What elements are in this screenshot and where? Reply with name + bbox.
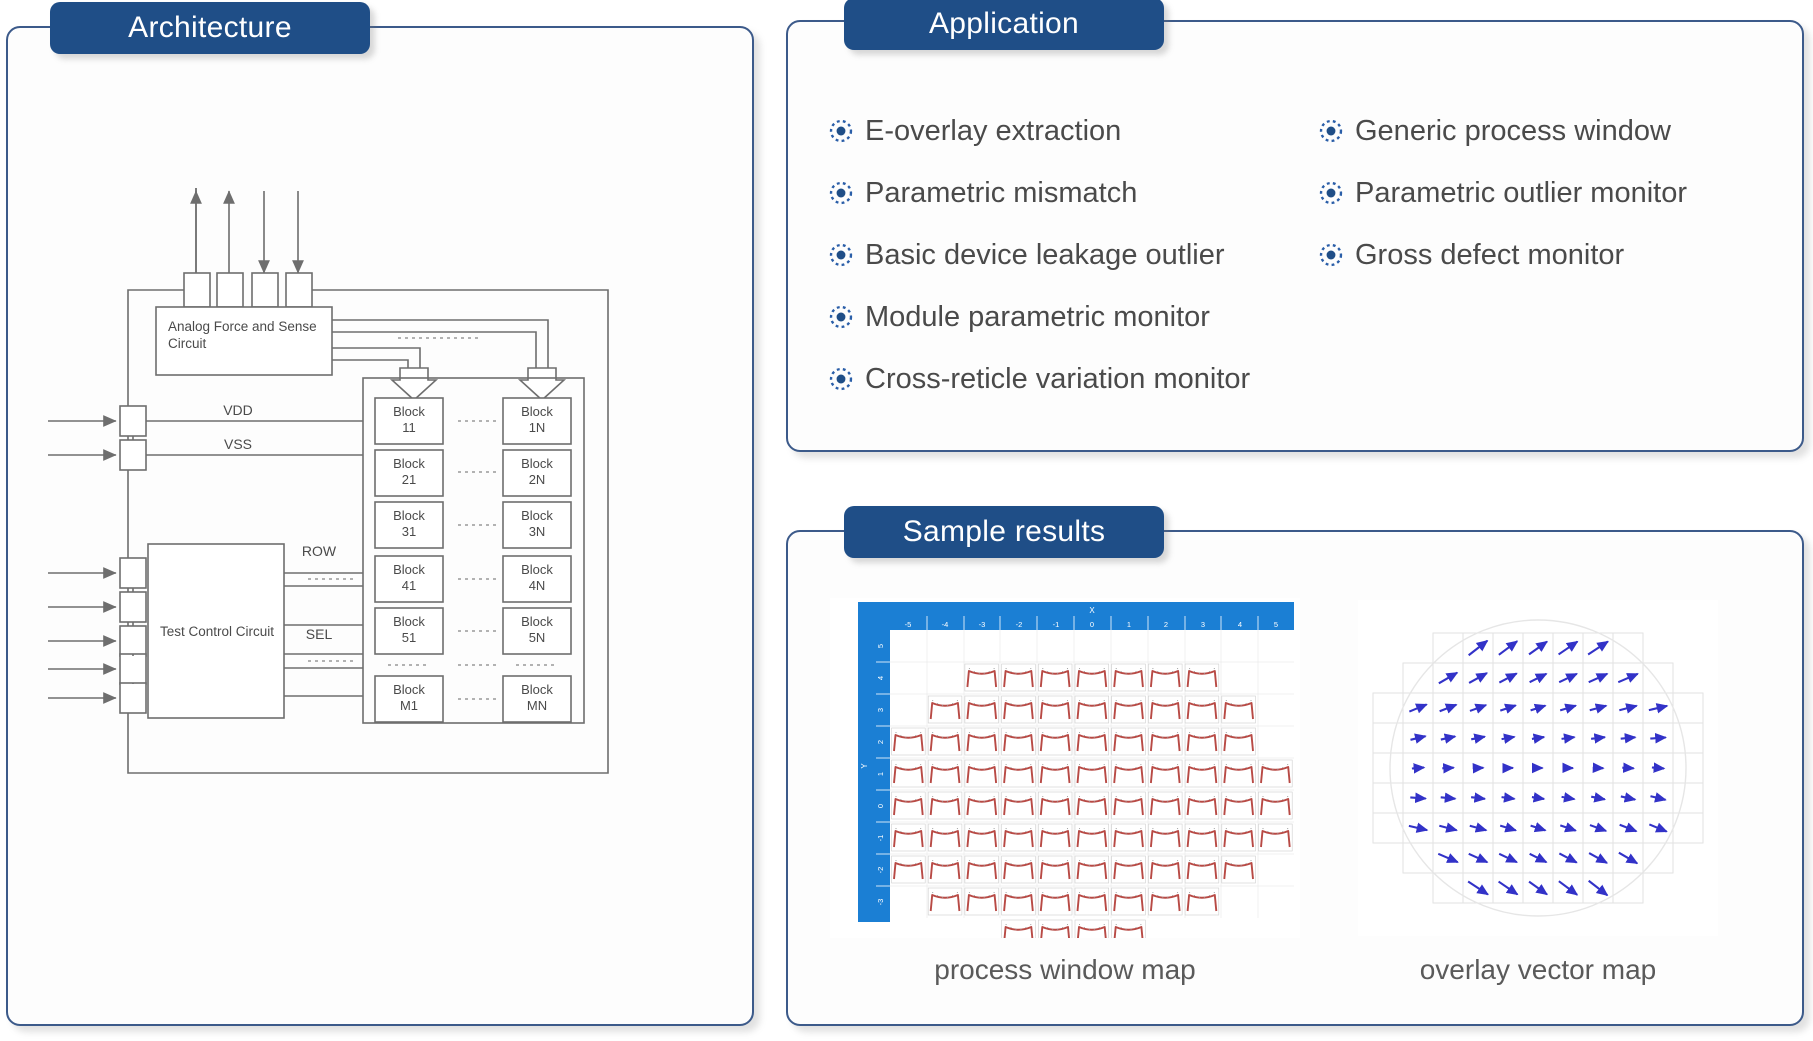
pwm-xlabel: X <box>1089 606 1095 615</box>
block-label: 41 <box>402 578 416 593</box>
list-item-label: E-overlay extraction <box>865 115 1121 148</box>
block-label: 1N <box>529 420 546 435</box>
block-label: 51 <box>402 630 416 645</box>
list-item[interactable]: Parametric mismatch <box>828 162 1298 224</box>
block-label: Block <box>393 404 425 419</box>
target-dot-icon <box>1318 242 1344 268</box>
list-item-label: Gross defect monitor <box>1355 239 1624 272</box>
block-label: Block <box>393 562 425 577</box>
target-dot-icon <box>828 304 854 330</box>
ovm-vector-group <box>1409 641 1667 895</box>
target-dot-icon <box>828 180 854 206</box>
block-label: 21 <box>402 472 416 487</box>
list-item[interactable]: Gross defect monitor <box>1318 224 1768 286</box>
block-label: 2N <box>529 472 546 487</box>
svg-text:-4: -4 <box>942 620 949 629</box>
svg-text:-3: -3 <box>876 899 885 906</box>
block-label: M1 <box>400 698 418 713</box>
target-dot-icon <box>828 366 854 392</box>
block-label: Block <box>393 614 425 629</box>
application-list: E-overlay extraction Parametric mismatch… <box>828 100 1768 410</box>
block-label: MN <box>527 698 547 713</box>
vss-label: VSS <box>224 436 252 452</box>
svg-text:3: 3 <box>1201 620 1205 629</box>
architecture-diagram: Block 11 Block 1N Block 21 Block 2N Bloc… <box>8 28 756 1028</box>
svg-text:2: 2 <box>1164 620 1168 629</box>
sel-label: SEL <box>306 626 333 642</box>
block-label: Block <box>393 456 425 471</box>
list-item-label: Generic process window <box>1355 115 1671 148</box>
svg-text:-1: -1 <box>876 835 885 842</box>
list-item-label: Cross-reticle variation monitor <box>865 363 1250 396</box>
list-item[interactable]: Basic device leakage outlier <box>828 224 1298 286</box>
svg-text:1: 1 <box>1127 620 1131 629</box>
block-label: 31 <box>402 524 416 539</box>
svg-text:4: 4 <box>1238 620 1242 629</box>
block-label: 4N <box>529 578 546 593</box>
pwm-ylabel: Y <box>860 763 869 769</box>
svg-text:-2: -2 <box>1016 620 1023 629</box>
target-dot-icon <box>1318 180 1344 206</box>
svg-text:-2: -2 <box>876 867 885 874</box>
architecture-panel-title: Architecture <box>50 2 370 54</box>
row-label: ROW <box>302 543 337 559</box>
analog-circuit-label-line1: Analog Force and Sense <box>168 319 317 334</box>
block-label: Block <box>393 682 425 697</box>
svg-text:-5: -5 <box>905 620 912 629</box>
application-panel-title: Application <box>844 0 1164 50</box>
analog-circuit-label-line2: Circuit <box>168 336 207 351</box>
block-label: Block <box>393 508 425 523</box>
block-label: Block <box>521 404 553 419</box>
svg-text:1: 1 <box>876 772 885 776</box>
svg-text:5: 5 <box>876 644 885 648</box>
svg-text:0: 0 <box>1090 620 1094 629</box>
list-item[interactable]: Module parametric monitor <box>828 286 1298 348</box>
sample-results-panel-title: Sample results <box>844 506 1164 558</box>
list-item[interactable]: Parametric outlier monitor <box>1318 162 1768 224</box>
svg-text:-1: -1 <box>1053 620 1060 629</box>
target-dot-icon <box>1318 118 1344 144</box>
svg-text:4: 4 <box>876 676 885 680</box>
block-label: 3N <box>529 524 546 539</box>
target-dot-icon <box>828 118 854 144</box>
process-window-map-caption: process window map <box>830 954 1300 986</box>
list-item-label: Parametric outlier monitor <box>1355 177 1687 210</box>
block-label: 11 <box>402 420 416 435</box>
architecture-panel: Block 11 Block 1N Block 21 Block 2N Bloc… <box>6 26 754 1026</box>
list-item[interactable]: Generic process window <box>1318 100 1768 162</box>
svg-text:-3: -3 <box>979 620 986 629</box>
svg-text:5: 5 <box>1274 620 1278 629</box>
svg-text:3: 3 <box>876 708 885 712</box>
block-label: Block <box>521 456 553 471</box>
application-panel: E-overlay extraction Parametric mismatch… <box>786 20 1804 452</box>
sample-results-panel: X Y -5-4-3 -2-10 123 45 5 4 3 2 1 0 -1 -… <box>786 530 1804 1026</box>
block-label: Block <box>521 508 553 523</box>
application-list-left-column: E-overlay extraction Parametric mismatch… <box>828 100 1298 410</box>
test-control-label: Test Control Circuit <box>160 624 274 639</box>
vdd-label: VDD <box>223 402 253 418</box>
list-item-label: Basic device leakage outlier <box>865 239 1224 272</box>
list-item-label: Parametric mismatch <box>865 177 1137 210</box>
block-label: Block <box>521 614 553 629</box>
overlay-vector-map-chart <box>1358 600 1718 936</box>
sample-results-body: X Y -5-4-3 -2-10 123 45 5 4 3 2 1 0 -1 -… <box>788 586 1802 1028</box>
target-dot-icon <box>828 242 854 268</box>
list-item[interactable]: Cross-reticle variation monitor <box>828 348 1298 410</box>
svg-text:2: 2 <box>876 740 885 744</box>
application-list-right-column: Generic process window Parametric outlie… <box>1298 100 1768 410</box>
block-label: Block <box>521 682 553 697</box>
svg-text:0: 0 <box>876 804 885 808</box>
overlay-vector-map-caption: overlay vector map <box>1348 954 1728 986</box>
block-label: Block <box>521 562 553 577</box>
list-item-label: Module parametric monitor <box>865 301 1210 334</box>
block-label: 5N <box>529 630 546 645</box>
list-item[interactable]: E-overlay extraction <box>828 100 1298 162</box>
process-window-map-chart: X Y -5-4-3 -2-10 123 45 5 4 3 2 1 0 -1 -… <box>830 598 1300 938</box>
